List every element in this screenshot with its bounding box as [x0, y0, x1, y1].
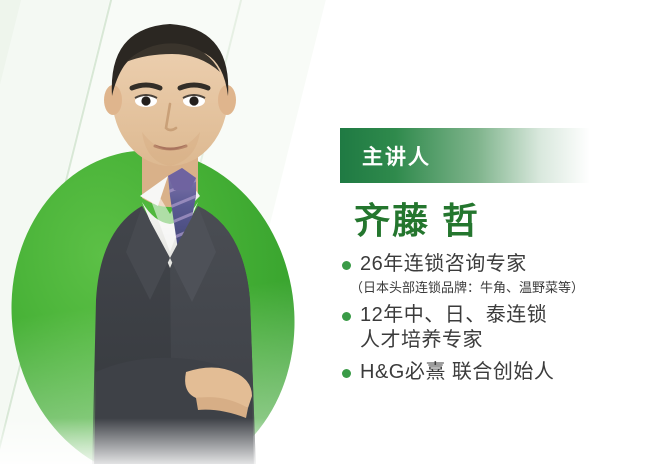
bullet-dot-icon: [342, 261, 351, 270]
credential-main-text: 26年连锁咨询专家: [360, 252, 649, 278]
speaker-name: 齐藤 哲: [354, 192, 480, 244]
speaker-info-panel: 主讲人 齐藤 哲 26年连锁咨询专家 （日本头部连锁品牌：牛角、温野菜等） 12…: [340, 0, 649, 464]
speaker-banner: 主讲人: [340, 128, 590, 183]
list-item: H&G必熹 联合创始人: [340, 360, 649, 386]
credential-main-text: 12年中、日、泰连锁人才培养专家: [360, 303, 649, 354]
list-item: 26年连锁咨询专家 （日本头部连锁品牌：牛角、温野菜等）: [340, 252, 649, 297]
speaker-profile-poster: 主讲人 齐藤 哲 26年连锁咨询专家 （日本头部连锁品牌：牛角、温野菜等） 12…: [0, 0, 649, 464]
speaker-banner-label: 主讲人: [362, 141, 431, 171]
credentials-list: 26年连锁咨询专家 （日本头部连锁品牌：牛角、温野菜等） 12年中、日、泰连锁人…: [340, 252, 649, 392]
bullet-dot-icon: [342, 312, 351, 321]
speaker-portrait: [0, 0, 330, 464]
credential-main-text: H&G必熹 联合创始人: [360, 360, 649, 386]
credential-sub-text: （日本头部连锁品牌：牛角、温野菜等）: [350, 279, 649, 297]
bullet-dot-icon: [342, 369, 351, 378]
list-item: 12年中、日、泰连锁人才培养专家: [340, 303, 649, 354]
portrait-illustration: [0, 0, 330, 464]
